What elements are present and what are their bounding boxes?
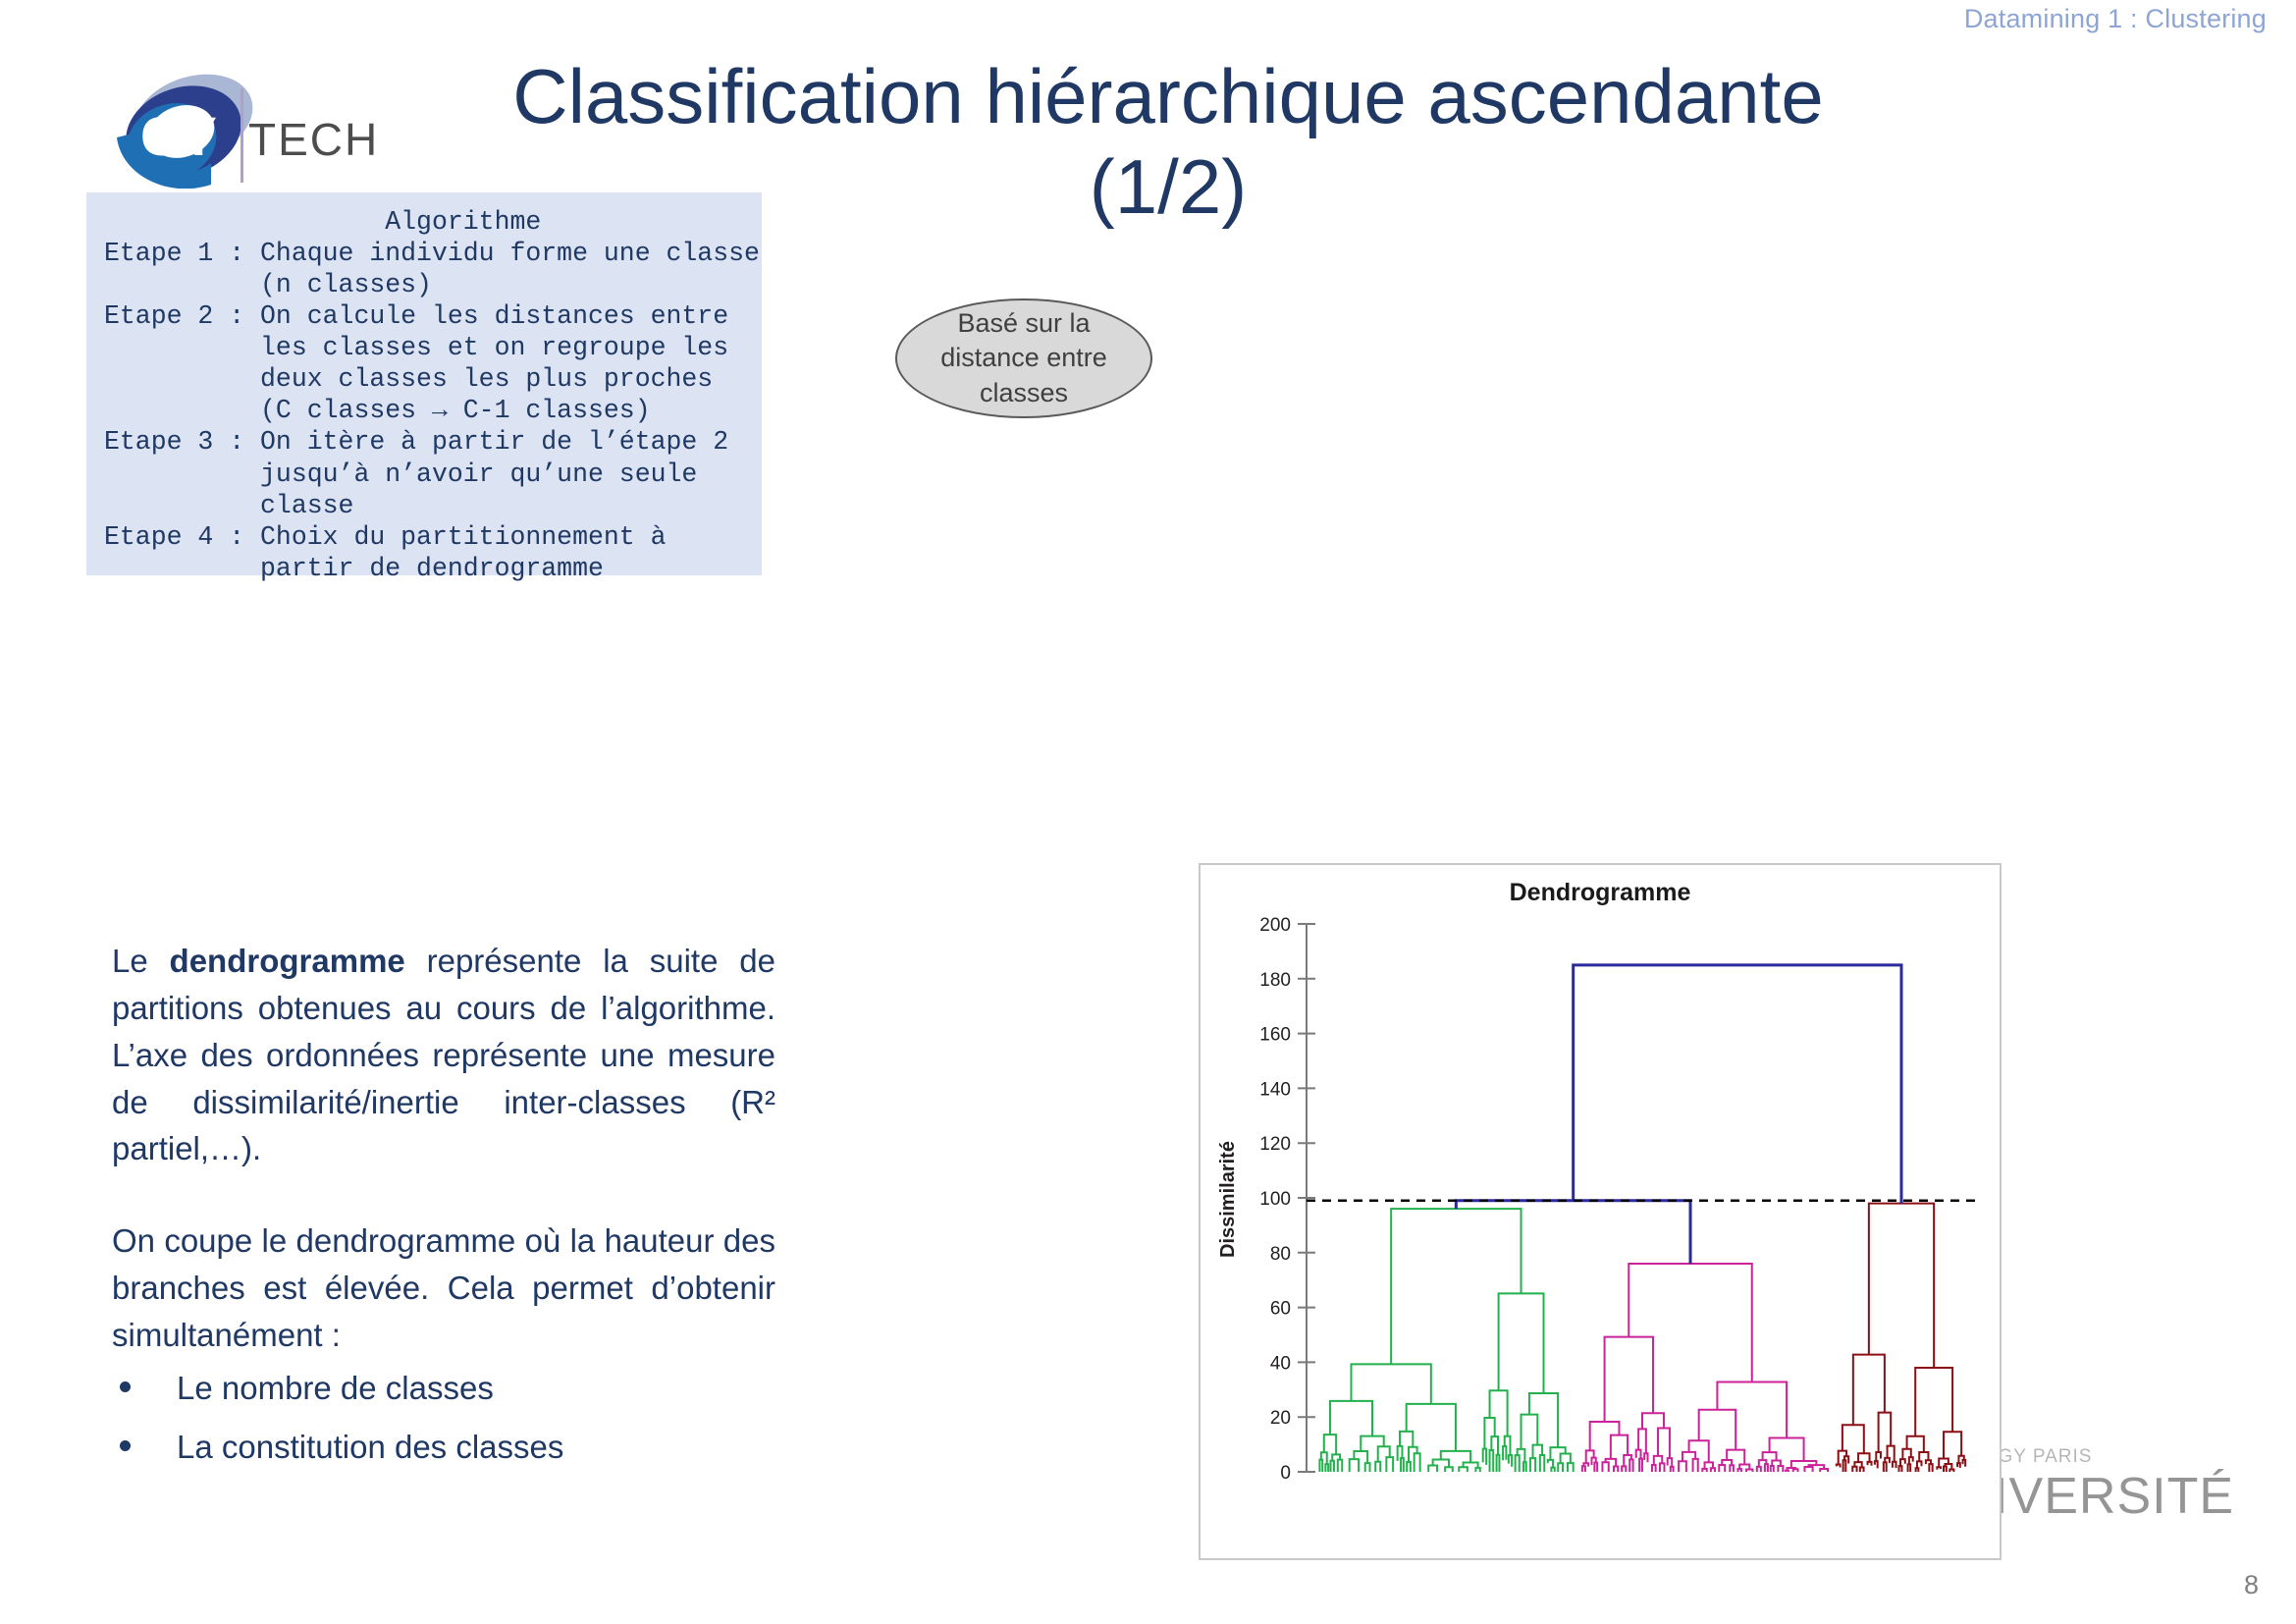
dendrogram-link bbox=[1622, 1466, 1626, 1472]
dendrogram-link bbox=[1908, 1464, 1911, 1472]
y-tick-label: 0 bbox=[1280, 1463, 1291, 1484]
dendrogram-link bbox=[1929, 1464, 1932, 1472]
dendrogram-link bbox=[1365, 1463, 1370, 1472]
dendrogram-link bbox=[1582, 1466, 1585, 1472]
dendrogram-link bbox=[1361, 1436, 1383, 1451]
cytech-logo: CY TECH bbox=[103, 61, 427, 189]
list-item-label: La constitution des classes bbox=[177, 1429, 563, 1465]
dendrogram-link bbox=[1727, 1450, 1744, 1465]
list-item-label: Le nombre de classes bbox=[177, 1370, 494, 1406]
bullet-dot-icon bbox=[120, 1440, 131, 1451]
dendrogram-link bbox=[1548, 1460, 1553, 1468]
dendrogram-link bbox=[1483, 1449, 1486, 1465]
dendrogram-link bbox=[1602, 1462, 1608, 1472]
dendrogram-link bbox=[1523, 1462, 1526, 1472]
dendrogram-link bbox=[1594, 1463, 1597, 1472]
slide: Datamining 1 : Clustering CY TECH Classi… bbox=[0, 0, 2296, 1624]
dendrogram-link bbox=[1869, 1204, 1934, 1368]
logo-cy-text: CY bbox=[140, 105, 217, 167]
y-tick-label: 80 bbox=[1270, 1244, 1291, 1265]
body-text-block: Le dendrogramme représente la suite de p… bbox=[112, 938, 775, 1482]
callout-oval-text: Basé sur la distance entre classes bbox=[897, 306, 1150, 411]
dendrogram-link bbox=[1660, 1463, 1665, 1472]
dendrogram-link bbox=[1459, 1467, 1468, 1472]
dendrogram-link bbox=[1325, 1464, 1328, 1472]
dendrogram-link bbox=[1391, 1209, 1521, 1364]
dendrogram-link bbox=[1884, 1462, 1887, 1472]
y-tick-label: 20 bbox=[1270, 1408, 1291, 1429]
dendrogram-link bbox=[1820, 1469, 1828, 1472]
dendrogram-chart: Dendrogramme 020406080100120140160180200… bbox=[1199, 863, 2002, 1560]
dendrogram-link bbox=[1737, 1469, 1740, 1472]
dendrogram-link bbox=[1503, 1446, 1506, 1460]
dendrogram-link bbox=[1629, 1264, 1751, 1382]
y-tick-label: 160 bbox=[1259, 1025, 1291, 1046]
page-title-line1: Classification hiérarchique ascendante bbox=[471, 51, 1865, 141]
cytech-logo-svg: CY TECH bbox=[103, 61, 427, 189]
dendrogram-link bbox=[1719, 1465, 1725, 1472]
dendrogram-link bbox=[1331, 1461, 1334, 1472]
dendrogram-link bbox=[1917, 1461, 1922, 1468]
dendrogram-link bbox=[1529, 1393, 1558, 1447]
dendrogram-link bbox=[1916, 1468, 1919, 1472]
dendrogram-link bbox=[1757, 1467, 1761, 1472]
dendrogram-link bbox=[1415, 1453, 1420, 1472]
dendrogram-link bbox=[1319, 1460, 1322, 1472]
dendrogram-link bbox=[1530, 1458, 1535, 1472]
dendrogram-link bbox=[1893, 1462, 1896, 1468]
y-tick-label: 180 bbox=[1259, 970, 1291, 991]
algorithm-text: Algorithme Etape 1 : Chaque individu for… bbox=[104, 206, 744, 584]
page-number: 8 bbox=[2244, 1570, 2259, 1600]
dendrogram-link bbox=[1378, 1446, 1390, 1462]
dendrogram-link bbox=[1509, 1455, 1512, 1467]
bullet-dot-icon bbox=[120, 1381, 131, 1392]
dendrogram-link bbox=[1770, 1437, 1804, 1461]
dendrogram-link bbox=[1899, 1466, 1902, 1472]
dendrogram-link bbox=[1702, 1469, 1706, 1472]
dendrogram-link bbox=[1490, 1390, 1508, 1436]
dendrogram-link bbox=[1629, 1460, 1632, 1472]
dendrogram-link bbox=[1771, 1466, 1774, 1472]
y-tick-label: 100 bbox=[1259, 1189, 1291, 1210]
y-tick-label: 140 bbox=[1259, 1079, 1291, 1100]
dendrogram-link bbox=[1400, 1432, 1413, 1447]
y-tick-label: 40 bbox=[1270, 1353, 1291, 1374]
dendrogram-link bbox=[1652, 1465, 1656, 1472]
dendrogram-link bbox=[1804, 1467, 1812, 1472]
dendrogram-link bbox=[1679, 1461, 1686, 1472]
dendrogram-link bbox=[1868, 1462, 1872, 1466]
logo-divider bbox=[240, 88, 243, 183]
dendrogram-links bbox=[1319, 965, 1965, 1472]
dendrogram-link bbox=[1558, 1463, 1563, 1472]
dendrogram-link bbox=[1351, 1364, 1430, 1403]
dendrogram-link bbox=[1944, 1432, 1961, 1458]
dendrogram-link bbox=[1407, 1462, 1411, 1472]
dendrogram-link bbox=[1793, 1469, 1798, 1472]
dendrogram-link bbox=[1644, 1453, 1647, 1462]
dendrogram-plot: 020406080100120140160180200 Dissimilarit… bbox=[1201, 865, 2000, 1558]
dendrogram-link bbox=[1915, 1368, 1952, 1436]
dendrogram-link bbox=[1614, 1466, 1618, 1472]
dendrogram-link bbox=[1909, 1457, 1913, 1464]
dendrogram-link bbox=[1693, 1459, 1698, 1472]
y-tick-label: 60 bbox=[1270, 1299, 1291, 1320]
paragraph1-bold-term: dendrogramme bbox=[170, 943, 405, 979]
dendrogram-link bbox=[1636, 1450, 1641, 1459]
dendrogram-link bbox=[1540, 1455, 1544, 1472]
dendrogram-link bbox=[1730, 1465, 1734, 1472]
dendrogram-link bbox=[1671, 1467, 1674, 1472]
dendrogram-link bbox=[1765, 1464, 1768, 1472]
dendrogram-link bbox=[1568, 1463, 1574, 1472]
dendrogram-link bbox=[1386, 1457, 1393, 1472]
y-tick-label: 120 bbox=[1259, 1134, 1291, 1155]
dendrogram-link bbox=[1338, 1460, 1342, 1472]
dendrogram-link bbox=[1330, 1401, 1372, 1436]
dendrogram-link bbox=[1860, 1468, 1864, 1472]
dendrogram-link bbox=[1441, 1451, 1470, 1463]
dendrogram-link bbox=[1409, 1447, 1417, 1462]
logo-tech-text: TECH bbox=[248, 114, 379, 165]
dendrogram-link bbox=[1551, 1468, 1554, 1472]
dendrogram-link bbox=[1957, 1463, 1960, 1468]
dendrogram-link bbox=[1668, 1458, 1672, 1467]
dendrogram-link bbox=[1658, 1428, 1670, 1458]
dendrogram-link bbox=[1937, 1467, 1941, 1470]
paragraph1-pre: Le bbox=[112, 943, 170, 979]
dendrogram-link bbox=[1499, 1293, 1544, 1393]
dendrogram-link bbox=[1350, 1459, 1359, 1472]
dendrogram-link bbox=[1900, 1459, 1905, 1466]
dendrogram-link bbox=[1516, 1455, 1520, 1472]
dendrogram-link bbox=[1842, 1425, 1864, 1453]
y-tick-label: 200 bbox=[1259, 915, 1291, 936]
dendrogram-link bbox=[1490, 1450, 1494, 1472]
dendrogram-link bbox=[1445, 1467, 1453, 1472]
algorithm-box: Algorithme Etape 1 : Chaque individu for… bbox=[86, 192, 762, 575]
dendrogram-link bbox=[1375, 1462, 1380, 1472]
dendrogram-link bbox=[1949, 1470, 1953, 1472]
callout-oval: Basé sur la distance entre classes bbox=[895, 298, 1152, 418]
dendrogram-link bbox=[1497, 1455, 1500, 1472]
dendrogram-link bbox=[1837, 1465, 1841, 1468]
dendrogram-link bbox=[1944, 1467, 1947, 1472]
dendrogram-link bbox=[1642, 1413, 1664, 1429]
dendrogram-link bbox=[1786, 1471, 1789, 1472]
dendrogram-link bbox=[1475, 1468, 1479, 1472]
dendrogram-link bbox=[1962, 1460, 1965, 1467]
dendrogram-link bbox=[1354, 1451, 1367, 1463]
dendrogram-link bbox=[1858, 1453, 1869, 1462]
dendrogram-link bbox=[1561, 1454, 1571, 1464]
course-header-label: Datamining 1 : Clustering bbox=[1964, 4, 2267, 34]
paragraph-coupe: On coupe le dendrogramme où la hauteur d… bbox=[112, 1218, 775, 1359]
dendrogram-link bbox=[1590, 1422, 1620, 1450]
list-item: La constitution des classes bbox=[112, 1424, 775, 1471]
dendrogram-link bbox=[1875, 1461, 1878, 1468]
dendrogram-link bbox=[1574, 965, 1901, 1204]
dendrogram-link bbox=[1484, 1418, 1494, 1449]
dendrogram-link bbox=[1711, 1468, 1715, 1472]
dendrogram-link bbox=[1699, 1410, 1736, 1450]
dendrogram-link bbox=[1456, 1201, 1690, 1264]
list-item: Le nombre de classes bbox=[112, 1365, 775, 1412]
benefits-list: Le nombre de classes La constitution des… bbox=[112, 1365, 775, 1471]
dendrogram-link bbox=[1843, 1460, 1846, 1472]
dendrogram-link bbox=[1639, 1459, 1642, 1472]
y-axis-title: Dissimilarité bbox=[1217, 1141, 1239, 1258]
dendrogram-link bbox=[1522, 1415, 1538, 1449]
dendrogram-link bbox=[1888, 1446, 1895, 1462]
dendrogram-link bbox=[1876, 1452, 1881, 1461]
dendrogram-link bbox=[1746, 1469, 1752, 1472]
dendrogram-link bbox=[1778, 1466, 1783, 1472]
dendrogram-link bbox=[1852, 1467, 1856, 1472]
paragraph-dendrogramme: Le dendrogramme représente la suite de p… bbox=[112, 938, 775, 1172]
dendrogram-link bbox=[1401, 1458, 1404, 1472]
dendrogram-link bbox=[1853, 1355, 1885, 1426]
dendrogram-link bbox=[1428, 1465, 1437, 1472]
dendrogram-link bbox=[1605, 1337, 1653, 1422]
